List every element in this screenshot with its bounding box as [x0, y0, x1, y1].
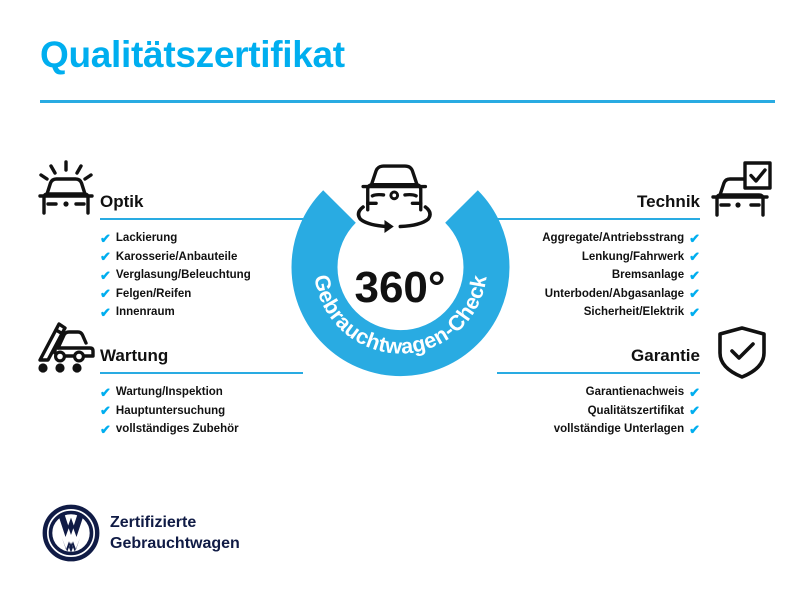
- section-garantie-header: Garantie: [497, 336, 700, 374]
- check-icon: ✔: [100, 386, 111, 399]
- list-item: ✔Felgen/Reifen: [100, 285, 303, 304]
- section-wartung-header: Wartung: [100, 336, 303, 374]
- section-wartung-list: ✔Wartung/Inspektion ✔Hauptuntersuchung ✔…: [100, 383, 303, 439]
- section-wartung: Wartung ✔Wartung/Inspektion ✔Hauptunters…: [100, 336, 303, 439]
- list-item: ✔Hauptuntersuchung: [100, 402, 303, 421]
- list-item-label: Garantienachweis: [586, 383, 684, 402]
- list-item-label: Lenkung/Fahrwerk: [582, 248, 684, 267]
- list-item-label: Felgen/Reifen: [116, 285, 191, 304]
- check-icon: ✔: [689, 306, 700, 319]
- list-item: ✔Karosserie/Anbauteile: [100, 248, 303, 267]
- section-garantie-list: Garantienachweis✔ Qualitätszertifikat✔ v…: [497, 383, 700, 439]
- certificate-page: Qualitätszertifikat: [0, 0, 800, 600]
- section-optik-list: ✔Lackierung ✔Karosserie/Anbauteile ✔Verg…: [100, 229, 303, 322]
- section-optik-header: Optik: [100, 182, 303, 220]
- list-item-label: vollständige Unterlagen: [554, 420, 684, 439]
- list-item: ✔Verglasung/Beleuchtung: [100, 266, 303, 285]
- check-icon: ✔: [689, 386, 700, 399]
- list-item: Qualitätszertifikat✔: [497, 402, 700, 421]
- list-item-label: Hauptuntersuchung: [116, 402, 225, 421]
- footer-brand-text: Zertifizierte Gebrauchtwagen: [110, 512, 240, 554]
- footer-line-2: Gebrauchtwagen: [110, 533, 240, 554]
- check-icon: ✔: [689, 250, 700, 263]
- check-icon: ✔: [100, 250, 111, 263]
- list-item: ✔Wartung/Inspektion: [100, 383, 303, 402]
- list-item-label: Verglasung/Beleuchtung: [116, 266, 251, 285]
- check-icon: ✔: [689, 232, 700, 245]
- list-item-label: vollständiges Zubehör: [116, 420, 239, 439]
- section-wartung-divider: [100, 372, 303, 375]
- check-icon: ✔: [100, 232, 111, 245]
- section-technik-divider: [497, 218, 700, 221]
- check-icon: ✔: [689, 423, 700, 436]
- section-optik: Optik ✔Lackierung ✔Karosserie/Anbauteile…: [100, 182, 303, 322]
- list-item-label: Lackierung: [116, 229, 177, 248]
- car-checkbox-icon: [710, 160, 772, 218]
- check-icon: ✔: [100, 269, 111, 282]
- list-item-label: Qualitätszertifikat: [588, 402, 685, 421]
- list-item: Garantienachweis✔: [497, 383, 700, 402]
- check-icon: ✔: [100, 306, 111, 319]
- list-item: Bremsanlage✔: [497, 266, 700, 285]
- section-technik-header: Technik: [497, 182, 700, 220]
- shield-check-icon: [716, 325, 768, 380]
- section-technik: Technik Aggregate/Antriebsstrang✔ Lenkun…: [497, 182, 700, 322]
- check-icon: ✔: [100, 287, 111, 300]
- list-item: Aggregate/Antriebsstrang✔: [497, 229, 700, 248]
- section-wartung-title: Wartung: [100, 346, 168, 366]
- list-item: ✔Innenraum: [100, 303, 303, 322]
- list-item-label: Wartung/Inspektion: [116, 383, 223, 402]
- badge-center-label: 360°: [354, 263, 445, 312]
- check-icon: ✔: [689, 287, 700, 300]
- list-item-label: Bremsanlage: [612, 266, 684, 285]
- list-item-label: Sicherheit/Elektrik: [584, 303, 684, 322]
- section-technik-list: Aggregate/Antriebsstrang✔ Lenkung/Fahrwe…: [497, 229, 700, 322]
- title-divider: [40, 100, 775, 103]
- page-title: Qualitätszertifikat: [40, 36, 345, 73]
- list-item: vollständige Unterlagen✔: [497, 420, 700, 439]
- section-technik-title: Technik: [637, 192, 700, 212]
- section-optik-divider: [100, 218, 303, 221]
- section-garantie: Garantie Garantienachweis✔ Qualitätszert…: [497, 336, 700, 439]
- volkswagen-logo: [42, 504, 100, 562]
- car-shine-icon: [37, 160, 95, 215]
- car-lift-service-icon: [34, 318, 96, 374]
- list-item-label: Innenraum: [116, 303, 175, 322]
- gebrauchtwagen-check-badge: Gebrauchtwagen-Check 360°: [283, 150, 518, 385]
- list-item: Unterboden/Abgasanlage✔: [497, 285, 700, 304]
- check-icon: ✔: [689, 269, 700, 282]
- section-garantie-divider: [497, 372, 700, 375]
- list-item: Lenkung/Fahrwerk✔: [497, 248, 700, 267]
- section-garantie-title: Garantie: [631, 346, 700, 366]
- check-icon: ✔: [100, 423, 111, 436]
- list-item-label: Aggregate/Antriebsstrang: [542, 229, 684, 248]
- list-item-label: Unterboden/Abgasanlage: [545, 285, 684, 304]
- list-item: Sicherheit/Elektrik✔: [497, 303, 700, 322]
- check-icon: ✔: [100, 404, 111, 417]
- footer-line-1: Zertifizierte: [110, 512, 240, 533]
- section-optik-title: Optik: [100, 192, 143, 212]
- list-item: ✔Lackierung: [100, 229, 303, 248]
- list-item-label: Karosserie/Anbauteile: [116, 248, 237, 267]
- list-item: ✔vollständiges Zubehör: [100, 420, 303, 439]
- check-icon: ✔: [689, 404, 700, 417]
